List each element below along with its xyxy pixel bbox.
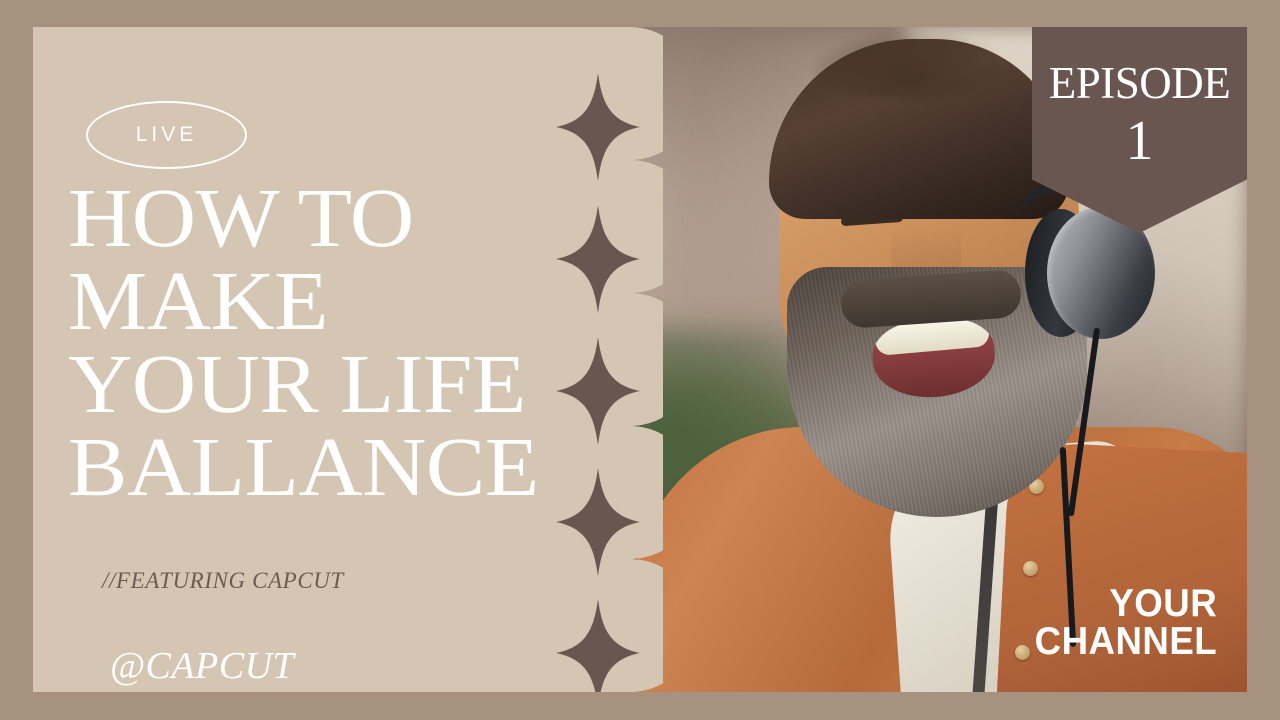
thumbnail-canvas: LIVE HOW TO MAKE YOUR LIFE BALLANCE //FE… — [0, 0, 1280, 720]
sparkle-star-icon — [556, 599, 640, 692]
title-line-3: YOUR LIFE — [68, 343, 566, 426]
live-badge-label: LIVE — [136, 123, 198, 147]
page-title: HOW TO MAKE YOUR LIFE BALLANCE — [68, 177, 538, 510]
featuring-subtitle: //FEATURING CAPCUT — [102, 568, 344, 594]
sparkle-star-icon — [556, 337, 640, 445]
sparkle-star-icon — [556, 205, 640, 313]
title-line-4: BALLANCE — [68, 426, 566, 509]
episode-number: 1 — [1032, 113, 1247, 169]
title-line-2: MAKE — [68, 260, 566, 343]
title-line-1: HOW TO — [68, 177, 566, 260]
hair-wisp — [809, 29, 1009, 99]
channel-line-2: CHANNEL — [1034, 623, 1217, 660]
live-badge[interactable]: LIVE — [86, 101, 247, 169]
social-handle: @CAPCUT — [110, 644, 294, 688]
episode-label: EPISODE — [1032, 61, 1247, 106]
channel-line-1: YOUR — [1034, 585, 1217, 622]
content-card: LIVE HOW TO MAKE YOUR LIFE BALLANCE //FE… — [33, 27, 1247, 692]
jacket-button — [1023, 561, 1038, 576]
channel-name: YOUR CHANNEL — [1023, 585, 1217, 660]
sparkle-star-icon — [556, 73, 640, 181]
sparkle-star-icon — [556, 468, 640, 576]
